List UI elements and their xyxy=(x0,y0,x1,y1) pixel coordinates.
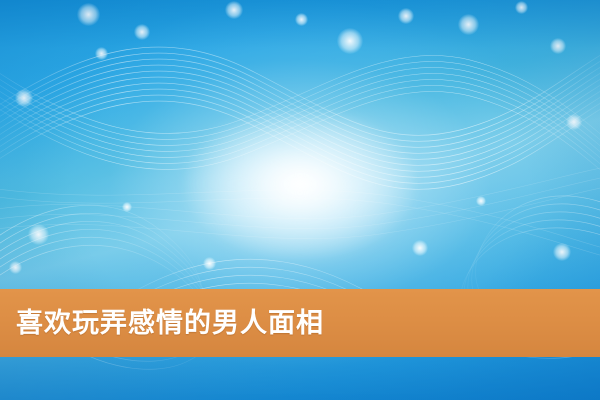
image-canvas: 喜欢玩弄感情的男人面相 xyxy=(0,0,600,400)
caption-banner: 喜欢玩弄感情的男人面相 xyxy=(0,289,600,357)
caption-title: 喜欢玩弄感情的男人面相 xyxy=(0,310,324,337)
